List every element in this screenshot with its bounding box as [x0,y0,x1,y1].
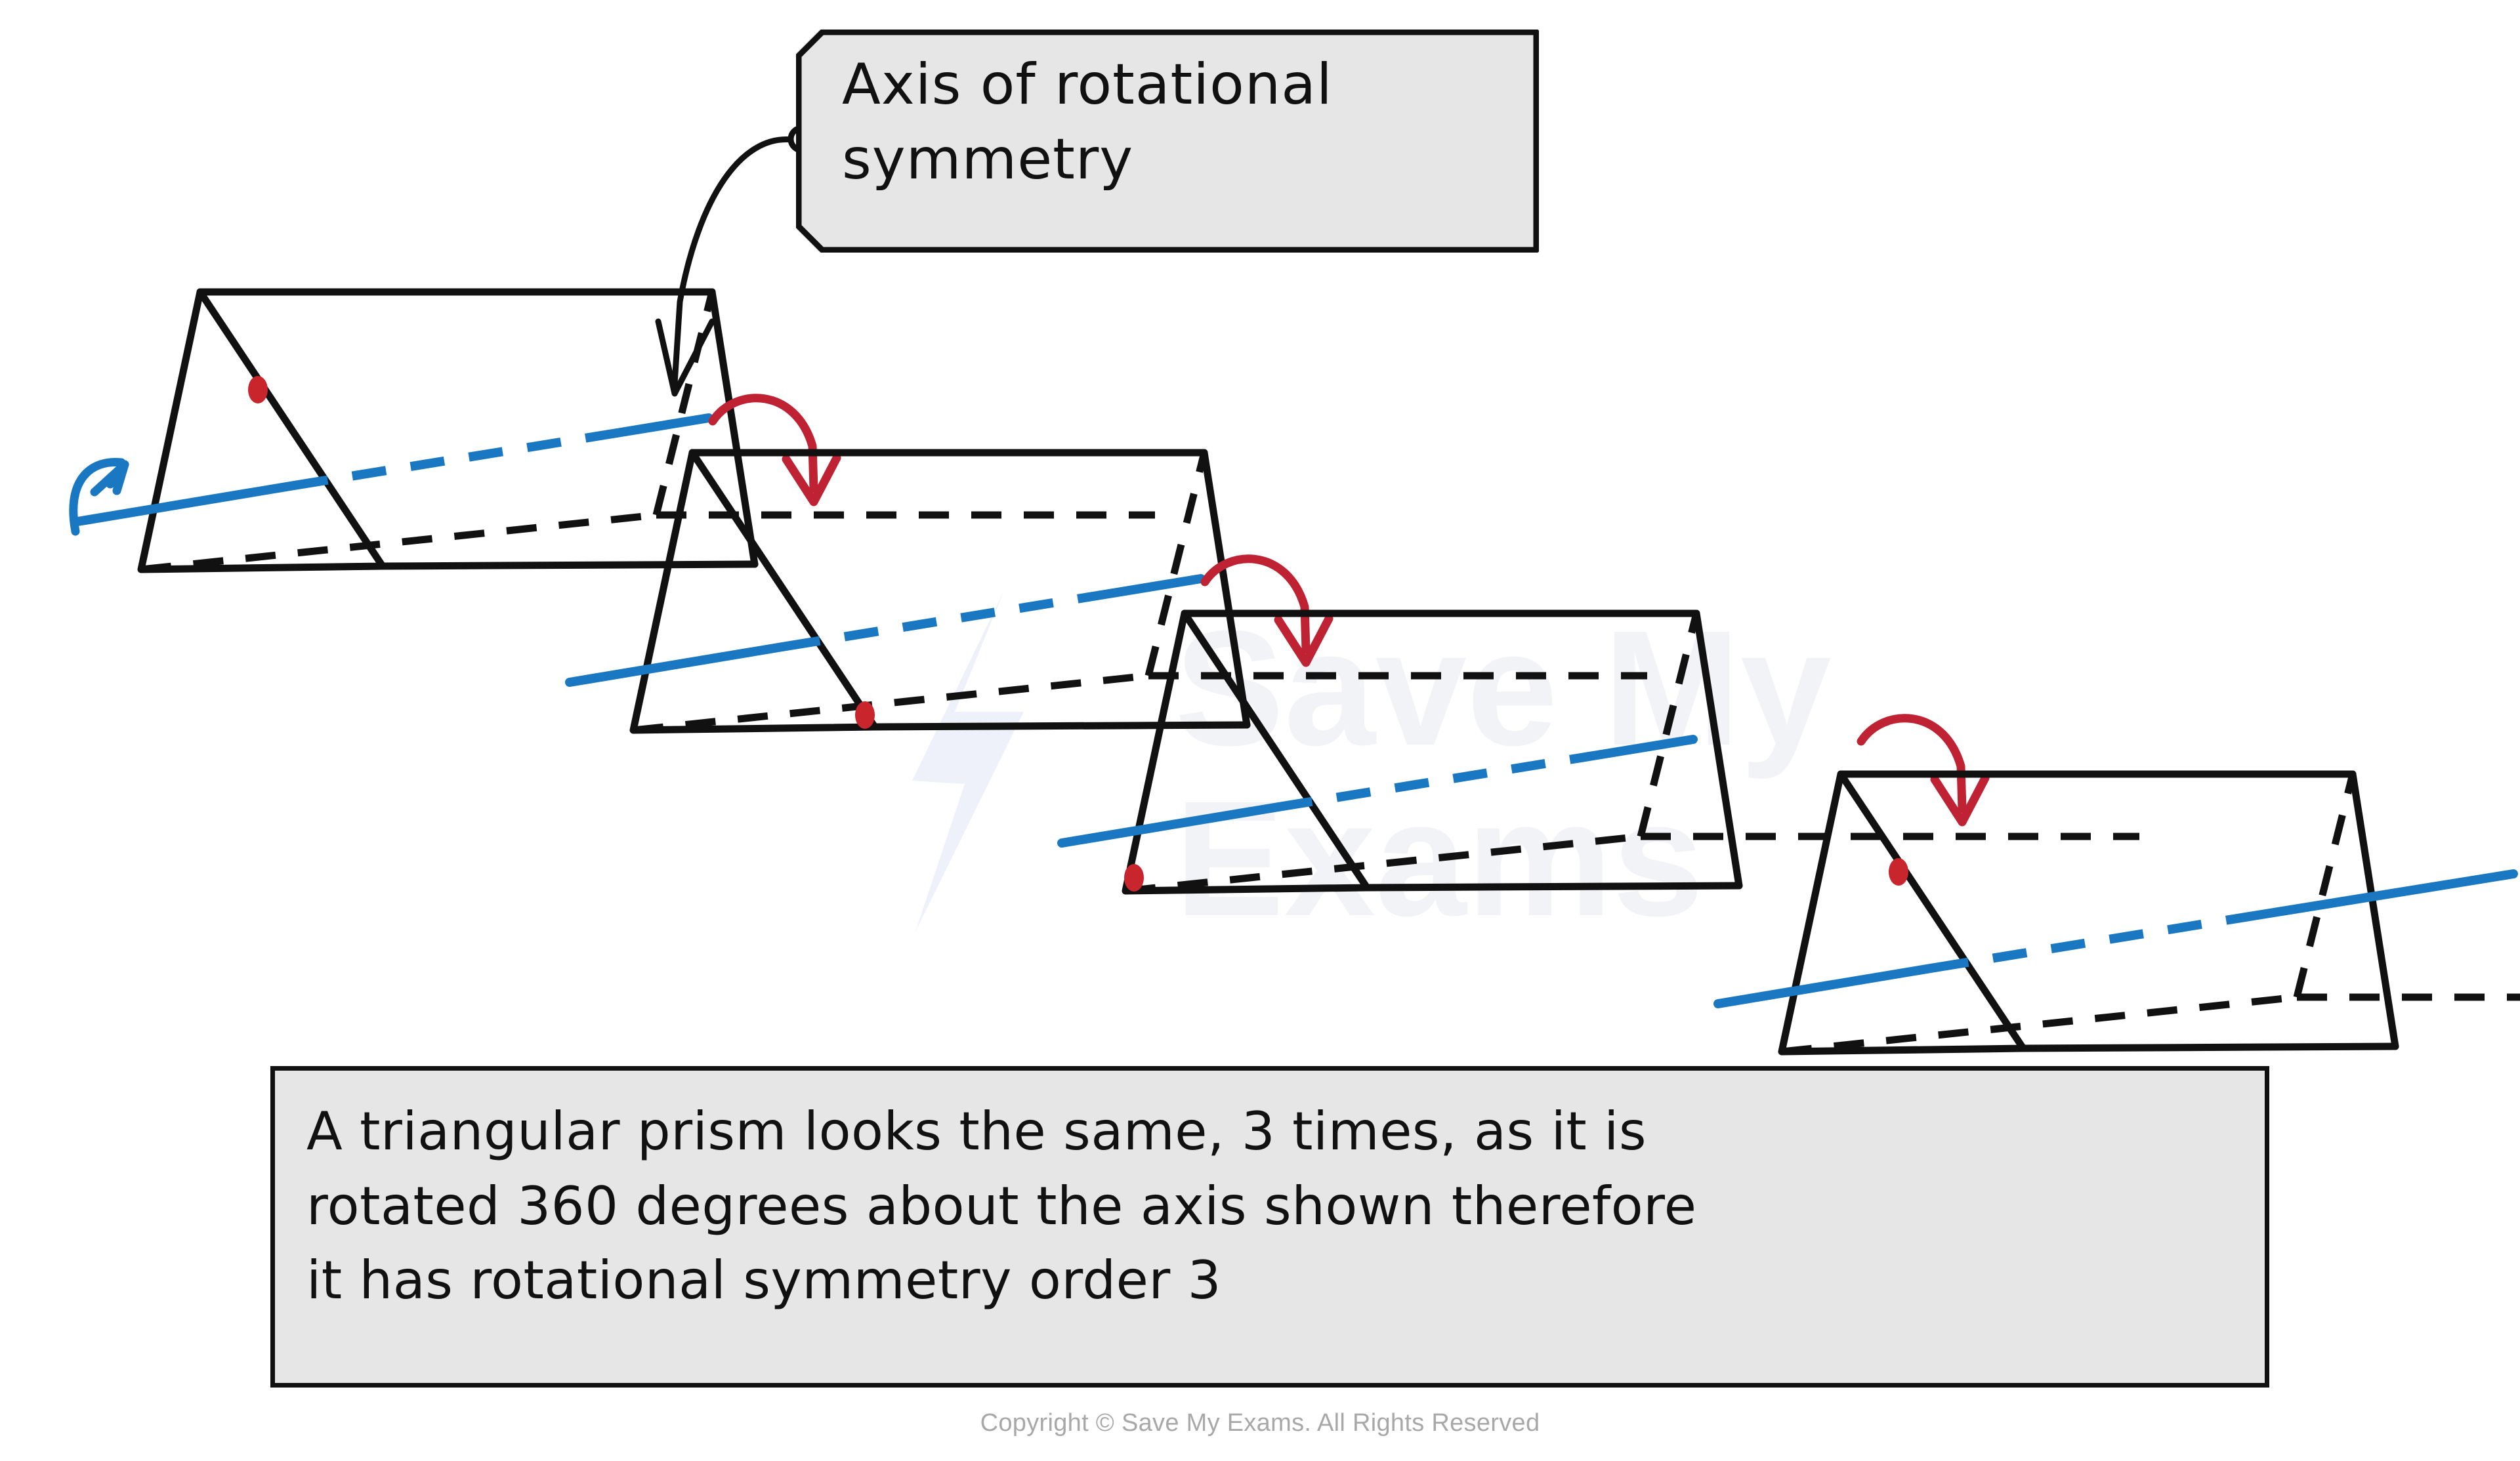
rotation-arrow-red-3 [1861,718,1985,822]
callout-label-text: Axis of rotational symmetry [842,48,1526,197]
copyright-notice: Copyright © Save My Exams. All Rights Re… [0,1409,2520,1437]
axis-callout-box: Axis of rotational symmetry [796,30,1539,253]
prism-stage-4 [1718,774,2520,1052]
axis-line-4 [1718,874,2513,1004]
watermark: Save My Exams [912,590,1832,950]
vertex-marker-dot [1889,858,1908,886]
vertex-marker-dot [248,376,268,403]
explanation-text: A triangular prism looks the same, 3 tim… [306,1094,2245,1318]
vertex-marker-dot [855,701,875,729]
explanation-box: A triangular prism looks the same, 3 tim… [270,1066,2269,1388]
prism-stage-1 [77,292,1155,569]
diagram-canvas: Save My Exams .sol{fill:none;stroke:#111… [0,0,2520,1461]
vertex-marker-dot [1124,864,1144,892]
